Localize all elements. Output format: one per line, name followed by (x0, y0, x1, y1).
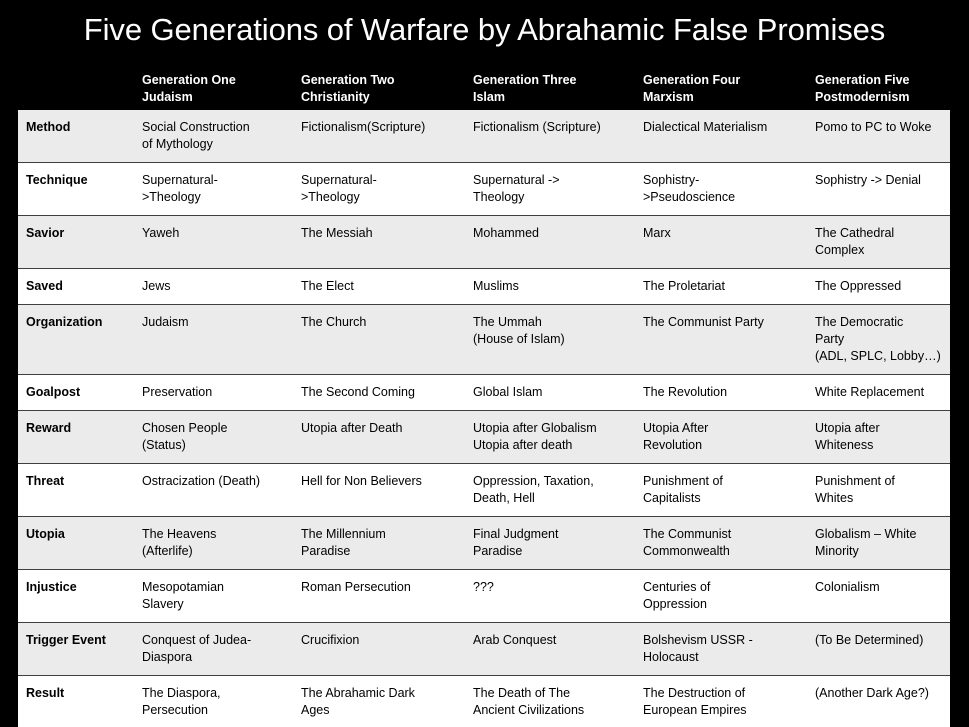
cell-line: Supernatural- (301, 172, 459, 189)
column-header-4: Generation FourMarxism (635, 72, 807, 108)
cell-line: Chosen People (142, 420, 287, 437)
row-label: Technique (18, 163, 134, 216)
cell-line: (Afterlife) (142, 543, 287, 560)
cell-line: Commonwealth (643, 543, 801, 560)
cell-line: Social Construction (142, 119, 287, 136)
cell-line: Ostracization (Death) (142, 473, 287, 490)
cell-line: >Pseudoscience (643, 189, 801, 206)
column-header-system: Postmodernism (815, 89, 946, 106)
cell-line: Holocaust (643, 649, 801, 666)
cell-line: Final Judgment (473, 526, 629, 543)
cell-line: Whiteness (815, 437, 944, 454)
table-cell: Dialectical Materialism (635, 110, 807, 163)
cell-line: Sophistry- (643, 172, 801, 189)
table-cell: Chosen People(Status) (134, 411, 293, 464)
column-header-generation: Generation Four (643, 72, 803, 89)
table-cell: Fictionalism(Scripture) (293, 110, 465, 163)
cell-line: The Heavens (142, 526, 287, 543)
cell-line: Theology (473, 189, 629, 206)
table-cell: Oppression, Taxation,Death, Hell (465, 464, 635, 517)
table-cell: Yaweh (134, 216, 293, 269)
cell-line: >Theology (301, 189, 459, 206)
cell-line: Minority (815, 543, 944, 560)
table-cell: The Destruction ofEuropean Empires (635, 676, 807, 727)
cell-line: The Ummah (473, 314, 629, 331)
cell-line: (Another Dark Age?) (815, 685, 944, 702)
table-row: RewardChosen People(Status)Utopia after … (18, 411, 950, 464)
cell-line: Diaspora (142, 649, 287, 666)
cell-line: Party (815, 331, 944, 348)
cell-line: Jews (142, 278, 287, 295)
table-cell: The Death of TheAncient Civilizations (465, 676, 635, 727)
cell-line: Hell for Non Believers (301, 473, 459, 490)
column-header-generation: Generation One (142, 72, 289, 89)
table-row: UtopiaThe Heavens(Afterlife)The Millenni… (18, 517, 950, 570)
table-cell: The Abrahamic DarkAges (293, 676, 465, 727)
table-cell: The MillenniumParadise (293, 517, 465, 570)
cell-line: of Mythology (142, 136, 287, 153)
table-row: ThreatOstracization (Death)Hell for Non … (18, 464, 950, 517)
table-cell: The Diaspora,Persecution (134, 676, 293, 727)
cell-line: Fictionalism(Scripture) (301, 119, 459, 136)
cell-line: Judaism (142, 314, 287, 331)
table-cell: The Proletariat (635, 269, 807, 305)
table-row: SaviorYawehThe MessiahMohammedMarxThe Ca… (18, 216, 950, 269)
row-label: Organization (18, 305, 134, 375)
table-row: MethodSocial Constructionof MythologyFic… (18, 110, 950, 163)
table-cell: Supernatural->Theology (293, 163, 465, 216)
table-row: Trigger EventConquest of Judea-DiasporaC… (18, 623, 950, 676)
table-cell: White Replacement (807, 375, 950, 411)
cell-line: ??? (473, 579, 629, 596)
row-label: Goalpost (18, 375, 134, 411)
table-cell: The CommunistCommonwealth (635, 517, 807, 570)
cell-line: The Revolution (643, 384, 801, 401)
cell-line: The Elect (301, 278, 459, 295)
cell-line: Revolution (643, 437, 801, 454)
cell-line: The Oppressed (815, 278, 944, 295)
table-cell: The Communist Party (635, 305, 807, 375)
row-label: Trigger Event (18, 623, 134, 676)
cell-line: Bolshevism USSR - (643, 632, 801, 649)
table-cell: The Ummah(House of Islam) (465, 305, 635, 375)
cell-line: (House of Islam) (473, 331, 629, 348)
column-header-system: Christianity (301, 89, 461, 106)
table-cell: The CathedralComplex (807, 216, 950, 269)
table-cell: The Messiah (293, 216, 465, 269)
cell-line: Ages (301, 702, 459, 719)
table-cell: The DemocraticParty(ADL, SPLC, Lobby…) (807, 305, 950, 375)
column-header-1: Generation OneJudaism (134, 72, 293, 108)
cell-line: Roman Persecution (301, 579, 459, 596)
cell-line: Slavery (142, 596, 287, 613)
table-cell: The Elect (293, 269, 465, 305)
page-title: Five Generations of Warfare by Abrahamic… (0, 10, 969, 50)
cell-line: (To Be Determined) (815, 632, 944, 649)
table-cell: Globalism – WhiteMinority (807, 517, 950, 570)
table-cell: The Second Coming (293, 375, 465, 411)
row-label: Injustice (18, 570, 134, 623)
cell-line: The Abrahamic Dark (301, 685, 459, 702)
cell-line: The Diaspora, (142, 685, 287, 702)
cell-line: Mohammed (473, 225, 629, 242)
cell-line: Marx (643, 225, 801, 242)
table-cell: Global Islam (465, 375, 635, 411)
table-cell: Muslims (465, 269, 635, 305)
column-header-generation: Generation Three (473, 72, 631, 89)
table-cell: Utopia after GlobalismUtopia after death (465, 411, 635, 464)
column-header-3: Generation ThreeIslam (465, 72, 635, 108)
table-cell: Centuries ofOppression (635, 570, 807, 623)
cell-line: European Empires (643, 702, 801, 719)
cell-line: The Messiah (301, 225, 459, 242)
cell-line: Oppression, Taxation, (473, 473, 629, 490)
table-cell: (Another Dark Age?) (807, 676, 950, 727)
table-cell: Utopia AfterRevolution (635, 411, 807, 464)
column-header-system: Islam (473, 89, 631, 106)
cell-line: The Church (301, 314, 459, 331)
table-cell: Hell for Non Believers (293, 464, 465, 517)
table-cell: Ostracization (Death) (134, 464, 293, 517)
table-row: InjusticeMesopotamianSlaveryRoman Persec… (18, 570, 950, 623)
table-cell: Supernatural->Theology (134, 163, 293, 216)
column-header-system: Marxism (643, 89, 803, 106)
table-cell: Punishment ofCapitalists (635, 464, 807, 517)
cell-line: Oppression (643, 596, 801, 613)
cell-line: Muslims (473, 278, 629, 295)
table-cell: Roman Persecution (293, 570, 465, 623)
cell-line: Whites (815, 490, 944, 507)
cell-line: Ancient Civilizations (473, 702, 629, 719)
cell-line: Preservation (142, 384, 287, 401)
table-cell: Mohammed (465, 216, 635, 269)
table-cell: Punishment ofWhites (807, 464, 950, 517)
cell-line: Supernatural -> (473, 172, 629, 189)
cell-line: Fictionalism (Scripture) (473, 119, 629, 136)
cell-line: The Communist (643, 526, 801, 543)
cell-line: Utopia after death (473, 437, 629, 454)
table-row: TechniqueSupernatural->TheologySupernatu… (18, 163, 950, 216)
row-label: Reward (18, 411, 134, 464)
cell-line: >Theology (142, 189, 287, 206)
cell-line: Capitalists (643, 490, 801, 507)
table-cell: The Oppressed (807, 269, 950, 305)
table-cell: The Church (293, 305, 465, 375)
row-label: Result (18, 676, 134, 727)
cell-line: Dialectical Materialism (643, 119, 801, 136)
cell-line: The Death of The (473, 685, 629, 702)
column-header-generation: Generation Two (301, 72, 461, 89)
table-cell: Final JudgmentParadise (465, 517, 635, 570)
column-header-system: Judaism (142, 89, 289, 106)
cell-line: Utopia after (815, 420, 944, 437)
table-body: MethodSocial Constructionof MythologyFic… (18, 110, 950, 727)
table-cell: (To Be Determined) (807, 623, 950, 676)
table-cell: Conquest of Judea-Diaspora (134, 623, 293, 676)
row-label: Savior (18, 216, 134, 269)
cell-line: The Second Coming (301, 384, 459, 401)
table-cell: Crucifixion (293, 623, 465, 676)
table-cell: Supernatural ->Theology (465, 163, 635, 216)
table-cell: ??? (465, 570, 635, 623)
cell-line: Death, Hell (473, 490, 629, 507)
cell-line: Globalism – White (815, 526, 944, 543)
cell-line: The Communist Party (643, 314, 801, 331)
table-cell: Pomo to PC to Woke (807, 110, 950, 163)
cell-line: Mesopotamian (142, 579, 287, 596)
cell-line: (ADL, SPLC, Lobby…) (815, 348, 944, 365)
table-cell: The Heavens(Afterlife) (134, 517, 293, 570)
cell-line: Persecution (142, 702, 287, 719)
row-label: Threat (18, 464, 134, 517)
table-cell: MesopotamianSlavery (134, 570, 293, 623)
cell-line: (Status) (142, 437, 287, 454)
cell-line: Colonialism (815, 579, 944, 596)
table-cell: Sophistry->Pseudoscience (635, 163, 807, 216)
column-header-2: Generation TwoChristianity (293, 72, 465, 108)
slide-canvas: Five Generations of Warfare by Abrahamic… (0, 0, 969, 727)
cell-line: Utopia After (643, 420, 801, 437)
table-cell: Fictionalism (Scripture) (465, 110, 635, 163)
table-row: OrganizationJudaismThe ChurchThe Ummah(H… (18, 305, 950, 375)
cell-line: Arab Conquest (473, 632, 629, 649)
table-row: SavedJewsThe ElectMuslimsThe Proletariat… (18, 269, 950, 305)
table-cell: Bolshevism USSR -Holocaust (635, 623, 807, 676)
cell-line: Complex (815, 242, 944, 259)
cell-line: Punishment of (815, 473, 944, 490)
row-label: Method (18, 110, 134, 163)
cell-line: Conquest of Judea- (142, 632, 287, 649)
cell-line: The Proletariat (643, 278, 801, 295)
cell-line: Global Islam (473, 384, 629, 401)
table-cell: The Revolution (635, 375, 807, 411)
table-row: ResultThe Diaspora,PersecutionThe Abraha… (18, 676, 950, 727)
column-header-5: Generation FivePostmodernism (807, 72, 950, 108)
table-cell: Judaism (134, 305, 293, 375)
cell-line: Centuries of (643, 579, 801, 596)
column-header-row: Generation OneJudaismGeneration TwoChris… (18, 72, 950, 108)
cell-line: Paradise (301, 543, 459, 560)
cell-line: Utopia after Globalism (473, 420, 629, 437)
table-cell: Arab Conquest (465, 623, 635, 676)
row-label: Saved (18, 269, 134, 305)
table-cell: Colonialism (807, 570, 950, 623)
cell-line: The Millennium (301, 526, 459, 543)
table-cell: Preservation (134, 375, 293, 411)
cell-line: The Cathedral (815, 225, 944, 242)
cell-line: The Destruction of (643, 685, 801, 702)
table-cell: Social Constructionof Mythology (134, 110, 293, 163)
cell-line: Utopia after Death (301, 420, 459, 437)
column-header-generation: Generation Five (815, 72, 946, 89)
cell-line: Sophistry -> Denial (815, 172, 944, 189)
cell-line: Paradise (473, 543, 629, 560)
cell-line: Crucifixion (301, 632, 459, 649)
cell-line: Punishment of (643, 473, 801, 490)
table-cell: Sophistry -> Denial (807, 163, 950, 216)
table-cell: Utopia after Death (293, 411, 465, 464)
table-cell: Marx (635, 216, 807, 269)
table-row: GoalpostPreservationThe Second ComingGlo… (18, 375, 950, 411)
column-header-corner-spacer (18, 72, 134, 108)
cell-line: Yaweh (142, 225, 287, 242)
comparison-table: MethodSocial Constructionof MythologyFic… (18, 110, 950, 727)
cell-line: Pomo to PC to Woke (815, 119, 944, 136)
cell-line: Supernatural- (142, 172, 287, 189)
table-cell: Utopia afterWhiteness (807, 411, 950, 464)
row-label: Utopia (18, 517, 134, 570)
table-cell: Jews (134, 269, 293, 305)
cell-line: White Replacement (815, 384, 944, 401)
cell-line: The Democratic (815, 314, 944, 331)
